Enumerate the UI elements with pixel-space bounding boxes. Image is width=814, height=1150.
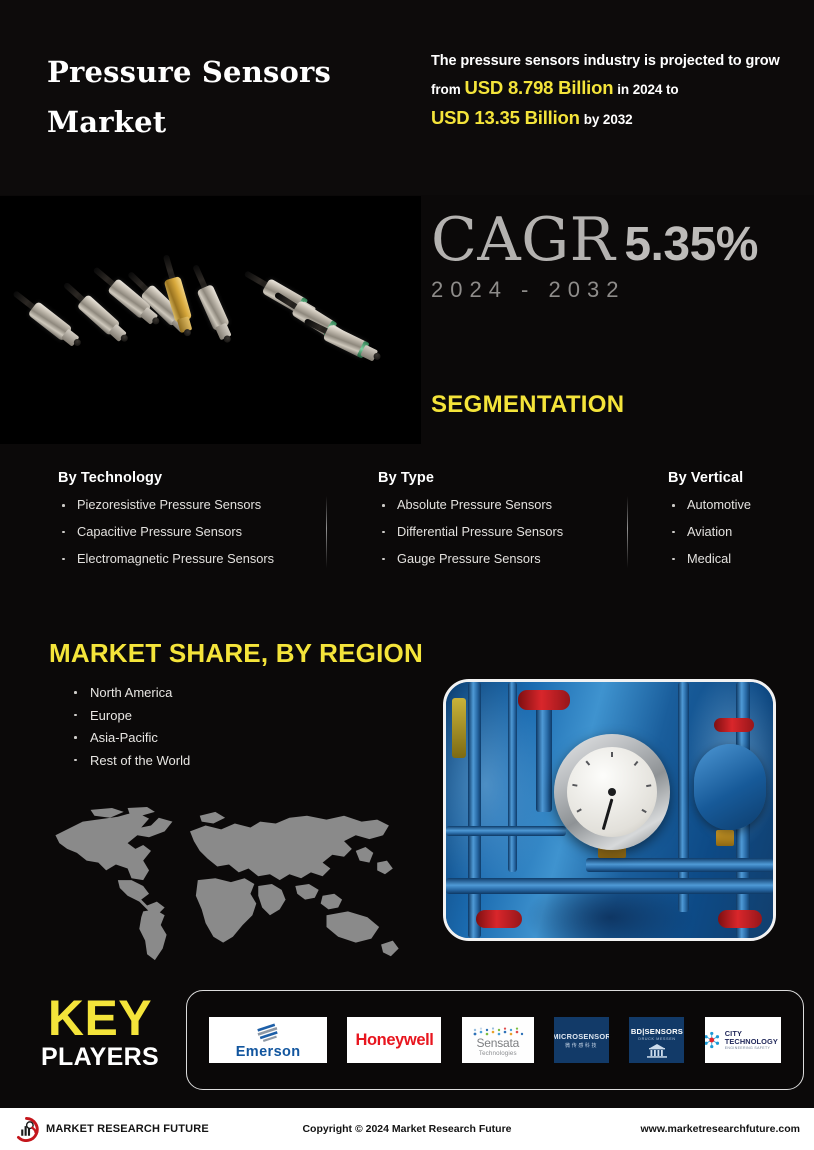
market-share-heading: MARKET SHARE, BY REGION (49, 638, 423, 669)
segmentation-divider (326, 496, 327, 568)
cagr-label: CAGR (431, 205, 615, 275)
logo-honeywell-text: Honeywell (355, 1031, 433, 1050)
segmentation-column-type: By Type Absolute Pressure Sensors Differ… (378, 470, 618, 579)
footer-bar: MARKET RESEARCH FUTURE Copyright © 2024 … (0, 1108, 814, 1150)
page-title: Pressure Sensors Market (47, 48, 407, 148)
list-item: Differential Pressure Sensors (378, 526, 618, 539)
kpi-prefix: The pressure sensors industry is project… (431, 53, 780, 69)
list-item: North America (70, 686, 190, 699)
logo-city-technology-text: CITY TECHNOLOGY (725, 1030, 781, 1046)
industrial-gauge-photo (443, 679, 776, 941)
header-band: Pressure Sensors Market The pressure sen… (0, 0, 814, 195)
logo-emerson-text: Emerson (236, 1044, 301, 1060)
market-value-statement: The pressure sensors industry is project… (431, 50, 796, 133)
page-title-line2: Market (47, 98, 407, 148)
segmentation-column-technology: By Technology Piezoresistive Pressure Se… (58, 470, 308, 579)
list-item: Automotive (668, 499, 808, 512)
list-item: Piezoresistive Pressure Sensors (58, 499, 308, 512)
cagr-value: 5.35% (624, 218, 758, 271)
segmentation-column-vertical: By Vertical Automotive Aviation Medical (668, 470, 808, 579)
list-item: Asia-Pacific (70, 731, 190, 744)
logo-bdsensors-text: BD|SENSORS (631, 1027, 683, 1036)
pressure-sensors-photo (0, 196, 421, 444)
logo-emerson[interactable]: Emerson (209, 1017, 327, 1063)
world-map (34, 806, 424, 966)
city-technology-molecule-icon (705, 1029, 721, 1051)
key-players-key-text: KEY (25, 994, 175, 1042)
column-title: By Type (378, 470, 618, 486)
segmentation-heading: SEGMENTATION (431, 391, 624, 419)
logo-honeywell[interactable]: Honeywell (347, 1017, 441, 1063)
kpi-mid-label: in 2024 to (617, 82, 678, 97)
logo-microsensor-text: MICROSENSOR (554, 1032, 609, 1041)
kpi-value-2024: USD 8.798 Billion (465, 77, 614, 98)
logo-city-technology-sub: ENGINEERING SAFETY (725, 1046, 781, 1050)
kpi-value-2032: USD 13.35 Billion (431, 107, 580, 128)
cagr-block: CAGR5.35% 2024 - 2032 (431, 205, 758, 303)
key-players-label: KEY PLAYERS (25, 994, 175, 1073)
list-item: Capacitive Pressure Sensors (58, 526, 308, 539)
list-item: Gauge Pressure Sensors (378, 553, 618, 566)
list-item: Medical (668, 553, 808, 566)
logo-city-technology[interactable]: CITY TECHNOLOGY ENGINEERING SAFETY (705, 1017, 781, 1063)
list-item: Absolute Pressure Sensors (378, 499, 618, 512)
list-item: Europe (70, 709, 190, 722)
list-item: Rest of the World (70, 754, 190, 767)
kpi-from-label: from (431, 82, 461, 97)
segmentation-section: By Technology Piezoresistive Pressure Se… (0, 470, 814, 615)
logo-bdsensors[interactable]: BD|SENSORS DRUCK MESSEN (629, 1017, 684, 1063)
secondary-gauge (694, 744, 766, 830)
cagr-year-range: 2024 - 2032 (431, 277, 758, 303)
segmentation-divider (627, 496, 628, 568)
logo-bdsensors-sub: DRUCK MESSEN (638, 1037, 675, 1041)
bdsensors-building-icon (642, 1043, 672, 1058)
emerson-mark-icon (255, 1023, 281, 1043)
list-item: Electromagnetic Pressure Sensors (58, 553, 308, 566)
page-title-line1: Pressure Sensors (47, 48, 407, 98)
infographic-page: Pressure Sensors Market The pressure sen… (0, 0, 814, 1150)
logo-microsensor[interactable]: MICROSENSOR 微传感科技 (554, 1017, 609, 1063)
footer-url[interactable]: www.marketresearchfuture.com (640, 1123, 800, 1135)
pressure-gauge (554, 734, 670, 850)
key-players-panel: Emerson Honeywell (186, 990, 804, 1090)
list-item: Aviation (668, 526, 808, 539)
logo-sensata-sub: Technologies (479, 1050, 517, 1057)
world-map-icon (34, 806, 424, 966)
logo-microsensor-sub: 微传感科技 (565, 1042, 598, 1049)
kpi-suffix-label: by 2032 (584, 112, 633, 127)
column-title: By Technology (58, 470, 308, 486)
region-list: North America Europe Asia-Pacific Rest o… (70, 686, 190, 776)
logo-sensata[interactable]: Sensata Technologies (462, 1017, 534, 1063)
logo-sensata-text: Sensata (476, 1037, 519, 1050)
key-players-players-text: PLAYERS (25, 1042, 175, 1073)
column-title: By Vertical (668, 470, 808, 486)
